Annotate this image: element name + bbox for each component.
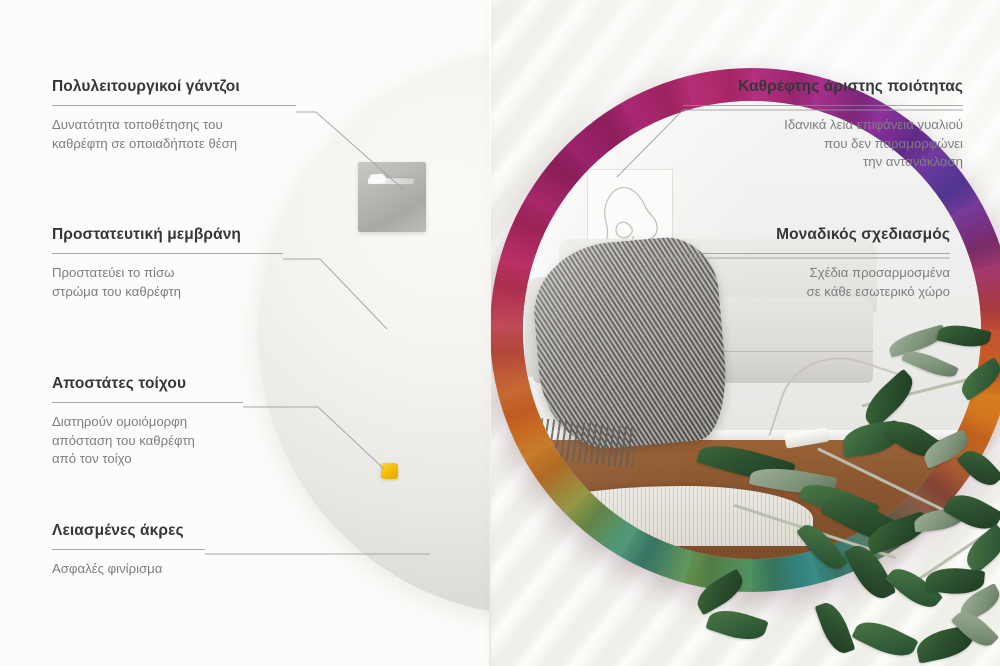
yellow-spacer	[381, 463, 398, 479]
callout-design-title: Μοναδικός σχεδιασμός	[683, 226, 950, 244]
callout-spacers-rule	[52, 402, 243, 403]
decorative-plant	[690, 330, 1000, 666]
callout-membrane-title: Προστατευτική μεμβράνη	[52, 226, 283, 244]
callout-membrane: Προστατευτική μεμβράνη Προστατεύει το πί…	[52, 226, 283, 301]
callout-membrane-desc: Προστατεύει το πίσω στρώμα του καθρέφτη	[52, 264, 283, 301]
callout-spacers-title: Αποστάτες τοίχου	[52, 375, 243, 393]
callout-edges-rule	[52, 549, 205, 550]
callout-membrane-rule	[52, 253, 283, 254]
plant-leaf	[956, 444, 1000, 493]
plant-leaf	[705, 604, 768, 647]
plant-leaf	[814, 599, 855, 658]
infographic-canvas: Πολυλειτουργικοί γάντζοι Δυνατότητα τοπο…	[0, 0, 1000, 666]
hanger-tab	[370, 173, 387, 184]
callout-hooks: Πολυλειτουργικοί γάντζοι Δυνατότητα τοπο…	[52, 78, 296, 153]
plant-leaf	[691, 569, 748, 616]
callout-design: Μοναδικός σχεδιασμός Σχέδια προσαρμοσμέν…	[683, 226, 950, 301]
callout-quality: Καθρέφτης άριστης ποιότητας Ιδανικά λεία…	[683, 78, 963, 172]
callout-hooks-desc: Δυνατότητα τοποθέτησης του καθρέφτη σε ο…	[52, 116, 296, 153]
plant-leaf	[851, 614, 918, 665]
callout-edges-title: Λειασμένες άκρες	[52, 522, 205, 540]
panel-divider	[489, 0, 491, 666]
callout-spacers-desc: Διατηρούν ομοιόμορφη απόσταση του καθρέφ…	[52, 413, 243, 469]
callout-design-rule	[683, 253, 950, 254]
callout-edges-desc: Ασφαλές φινίρισμα	[52, 560, 205, 579]
plant-leaf	[796, 518, 848, 576]
callout-quality-title: Καθρέφτης άριστης ποιότητας	[683, 78, 963, 96]
callout-design-desc: Σχέδια προσαρμοσμένα σε κάθε εσωτερικό χ…	[683, 264, 950, 301]
callout-hooks-title: Πολυλειτουργικοί γάντζοι	[52, 78, 296, 96]
callout-quality-rule	[683, 105, 963, 106]
callout-edges: Λειασμένες άκρες Ασφαλές φινίρισμα	[52, 522, 205, 579]
callout-spacers: Αποστάτες τοίχου Διατηρούν ομοιόμορφη απ…	[52, 375, 243, 469]
callout-quality-desc: Ιδανικά λεία επιφάνεια γυαλιού που δεν π…	[683, 116, 963, 172]
hanger-plate	[358, 162, 426, 232]
callout-hooks-rule	[52, 105, 296, 106]
